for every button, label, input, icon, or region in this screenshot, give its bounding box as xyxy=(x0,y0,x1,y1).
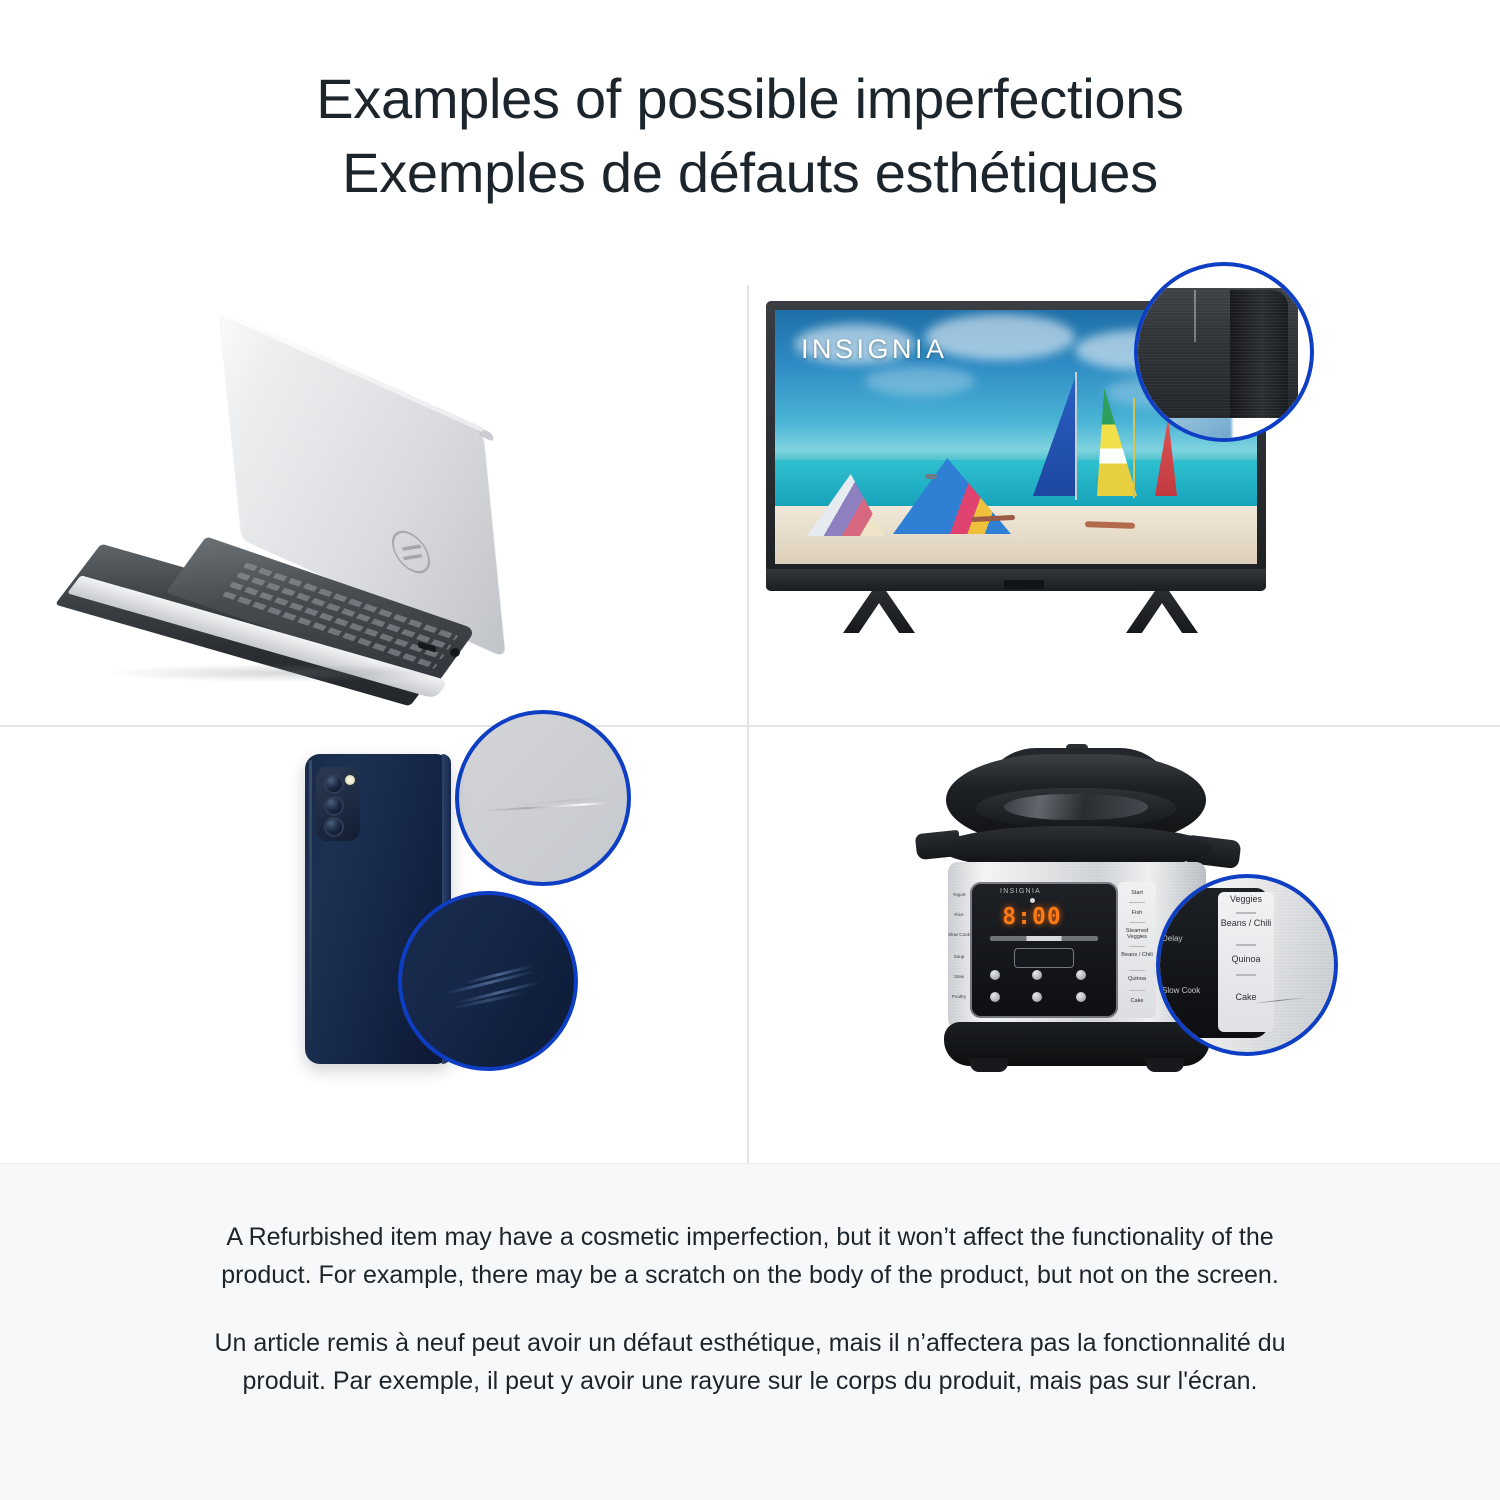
cooker-left-label[interactable]: Poultry xyxy=(948,994,970,999)
cooker-side-button[interactable]: Start xyxy=(1120,890,1154,896)
cooker-side-button-strip[interactable]: Start Fish Steamed Veggies Beans / Chili… xyxy=(1118,882,1156,1018)
cooker-pressure-indicator xyxy=(990,936,1098,941)
tv-defect-magnifier xyxy=(1134,262,1314,442)
phone-flash-icon xyxy=(345,775,355,785)
cooker-led-display: 8:00 xyxy=(998,904,1066,930)
cooker-left-label[interactable]: Slow Cook xyxy=(948,932,970,937)
tv-screen-logo: INSIGNIA xyxy=(801,334,948,365)
page-title-fr: Exemples de défauts esthétiques xyxy=(342,136,1158,210)
cooker-side-button[interactable]: Beans / Chili xyxy=(1120,952,1154,958)
cooker-side-button[interactable]: Steamed Veggies xyxy=(1120,928,1154,941)
cooker-side-button[interactable]: Quinoa xyxy=(1120,976,1154,982)
phone-scratch-mark xyxy=(457,981,541,1005)
cooker-button-cluster[interactable] xyxy=(980,970,1110,1012)
cooker-left-label[interactable]: Yogurt xyxy=(948,892,970,897)
cooker-left-label[interactable]: Soup xyxy=(948,954,970,959)
cooker-magnified-left-label: Delay xyxy=(1162,934,1182,943)
cooker-brand-label: INSIGNIA xyxy=(1000,888,1041,895)
tv-ir-sensor-icon xyxy=(1004,580,1044,589)
cooker-magnified-button: Quinoa xyxy=(1220,954,1272,964)
product-cell-pressure-cooker: Yogurt Rice Slow Cook Soup Stew Poultry … xyxy=(748,726,1500,1163)
phone-defect-magnifier xyxy=(398,891,578,1071)
tv-scene-sail-blue xyxy=(1033,378,1075,496)
footer-paragraph-fr: Un article remis à neuf peut avoir un dé… xyxy=(185,1324,1315,1400)
cooker-control-panel[interactable]: INSIGNIA 8:00 xyxy=(970,882,1118,1018)
refurbished-imperfections-infographic: Examples of possible imperfections Exemp… xyxy=(0,0,1500,1500)
cooker-magnified-button-strip: Veggies Beans / Chili Quinoa Cake xyxy=(1218,892,1274,1032)
page-title-en: Examples of possible imperfections xyxy=(316,62,1184,136)
cooker-status-indicator xyxy=(1030,898,1035,903)
phone-illustration xyxy=(0,726,747,1163)
page-footer: A Refurbished item may have a cosmetic i… xyxy=(0,1163,1500,1500)
tv-scuff-mark xyxy=(1194,290,1196,342)
cooker-left-label[interactable]: Stew xyxy=(948,974,970,979)
laptop-audio-port-icon xyxy=(450,648,460,657)
phone-camera-lens-3 xyxy=(324,817,344,837)
cooker-foot-left xyxy=(970,1058,1008,1072)
laptop-shadow xyxy=(105,664,455,682)
tv-leg-left xyxy=(843,589,915,633)
tv-magnified-bezel-side xyxy=(1230,290,1288,418)
phone-camera-lens-2 xyxy=(324,796,344,816)
product-cell-tv: INSIGNIA xyxy=(748,258,1500,725)
cooker-foot-right xyxy=(1146,1058,1184,1072)
laptop-illustration xyxy=(0,258,747,725)
cooker-magnified-left-label: Slow Cook xyxy=(1162,986,1200,995)
page-header: Examples of possible imperfections Exemp… xyxy=(0,0,1500,258)
phone-highlight xyxy=(309,760,312,1056)
product-cell-laptop xyxy=(0,258,747,725)
cooker-lid-glass xyxy=(1004,794,1148,820)
cooker-left-label[interactable]: Rice xyxy=(948,912,970,917)
pressure-cooker-illustration: Yogurt Rice Slow Cook Soup Stew Poultry … xyxy=(748,726,1500,1163)
cooker-time-keypad[interactable] xyxy=(1014,948,1074,968)
product-cell-phone xyxy=(0,726,747,1163)
product-grid: INSIGNIA xyxy=(0,258,1500,1163)
cooker-magnified-button: Beans / Chili xyxy=(1220,918,1272,928)
cooker-left-button-column: Yogurt Rice Slow Cook Soup Stew Poultry xyxy=(948,888,970,1014)
cooker-magnified-button: Veggies xyxy=(1220,894,1272,904)
phone-camera-module xyxy=(316,767,360,841)
cooker-defect-magnifier: Delay Slow Cook Veggies Beans / Chili Qu… xyxy=(1156,874,1338,1056)
tv-leg-right xyxy=(1126,589,1198,633)
cooker-side-button[interactable]: Fish xyxy=(1120,910,1154,916)
phone-camera-lens-1 xyxy=(324,774,344,794)
cooker-side-button[interactable]: Cake xyxy=(1120,998,1154,1004)
tv-illustration: INSIGNIA xyxy=(748,258,1500,725)
footer-paragraph-en: A Refurbished item may have a cosmetic i… xyxy=(185,1218,1315,1294)
